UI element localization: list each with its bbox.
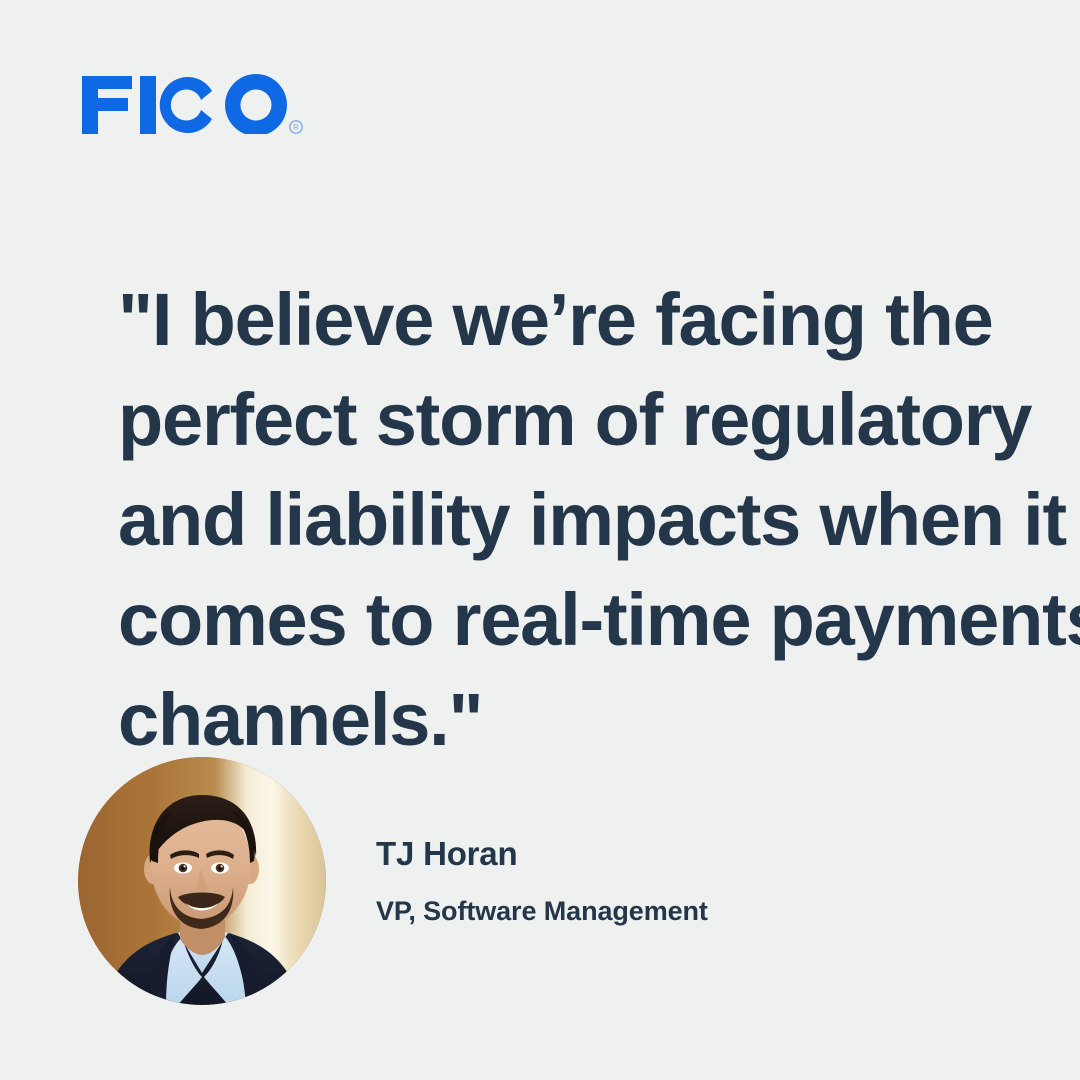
fico-logo: R — [80, 72, 310, 134]
fico-wordmark-icon: R — [80, 72, 310, 134]
person-title: VP, Software Management — [376, 894, 708, 928]
registered-mark-glyph: R — [293, 123, 299, 132]
avatar — [78, 757, 326, 1005]
quote-line-1: "I believe we’re facing the — [118, 270, 1048, 370]
quote-line-2: perfect storm of regulatory — [118, 370, 1048, 470]
quote-text: "I believe we’re facing the perfect stor… — [118, 270, 1048, 770]
person-info: TJ Horan VP, Software Management — [376, 834, 708, 928]
person-headshot-icon — [78, 757, 326, 1005]
quote-line-4: comes to real-time payments — [118, 570, 1048, 670]
quote-card: R "I believe we’re facing the perfect st… — [0, 0, 1080, 1080]
attribution-block: TJ Horan VP, Software Management — [78, 753, 978, 1009]
person-name: TJ Horan — [376, 834, 708, 874]
quote-line-3: and liability impacts when it — [118, 470, 1048, 570]
